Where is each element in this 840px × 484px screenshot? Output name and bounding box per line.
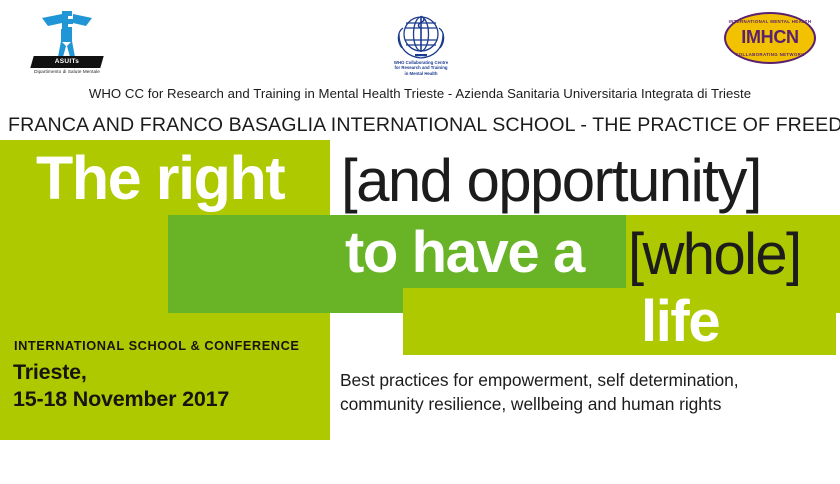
conference-dates: 15-18 November 2017 [13,387,229,412]
headline-life: life [641,288,719,356]
logo-row: ASUITs Dipartimento di Salute Mentale [0,0,840,82]
who-logo: WHO Collaborating Centre for Research an… [382,10,460,80]
tagline-line1: Best practices for empowerment, self det… [340,369,838,393]
imhcn-arc-top-text: INTERNATIONAL MENTAL HEALTH [724,19,816,24]
imhcn-logo: INTERNATIONAL MENTAL HEALTH IMHCN COLLAB… [724,10,816,68]
asuits-wordmark: ASUITs [32,56,102,68]
conference-city: Trieste, [13,360,87,385]
tagline: Best practices for empowerment, self det… [340,369,838,416]
asuits-subtitle: Dipartimento di Salute Mentale [22,69,112,74]
conference-kicker: INTERNATIONAL SCHOOL & CONFERENCE [14,338,299,353]
headline-whole: [whole] [628,220,801,290]
tagline-line2: community resilience, wellbeing and huma… [340,393,838,417]
imhcn-arc-bottom-text: COLLABORATING NETWORK [724,52,816,57]
lime-block-life [403,288,836,355]
school-title-line: FRANCA AND FRANCO BASAGLIA INTERNATIONAL… [8,114,832,137]
asuits-wordmark-bar: ASUITs [30,56,103,68]
headline-and-opportunity: [and opportunity] [341,145,761,217]
headline-to-have-a: to have a [345,218,584,288]
asuits-logo: ASUITs Dipartimento di Salute Mentale [22,10,112,78]
imhcn-acronym: IMHCN [724,28,816,47]
asuits-figure-icon [40,10,94,58]
who-caption: WHO Collaborating Centre for Research an… [382,60,460,76]
organisation-line: WHO CC for Research and Training in Ment… [0,86,840,101]
who-caption-line3: in Mental Health [382,71,460,76]
headline-the-right: The right [36,142,284,214]
who-emblem-icon [393,10,449,60]
poster-canvas: ASUITs Dipartimento di Salute Mentale [0,0,840,484]
